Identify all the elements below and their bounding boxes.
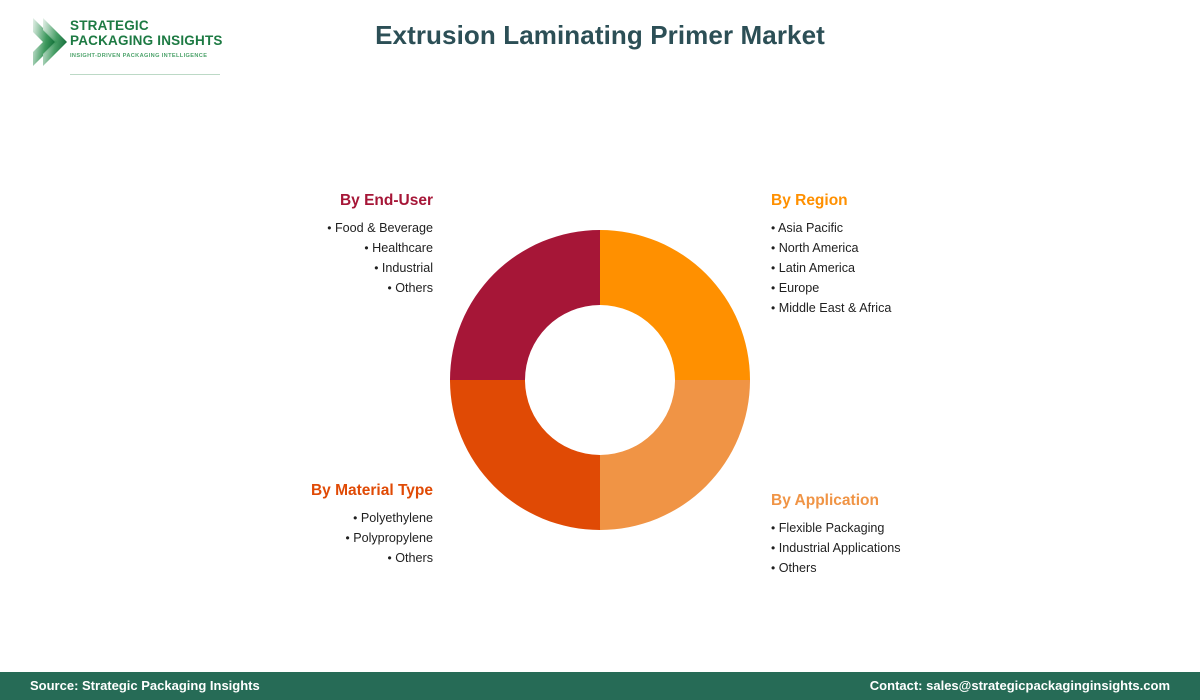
list-item-label: Others xyxy=(779,561,817,575)
list-item-label: Others xyxy=(395,281,433,295)
list-item: • Food & Beverage xyxy=(205,218,433,238)
bullet-icon: • xyxy=(771,221,775,235)
list-item: • Healthcare xyxy=(205,238,433,258)
segment-list-region: • Asia Pacific • North America • Latin A… xyxy=(771,218,1031,318)
list-item-label: Food & Beverage xyxy=(335,221,433,235)
donut-slice-by-region[interactable] xyxy=(600,230,750,380)
bullet-icon: • xyxy=(771,281,775,295)
list-item: • Industrial Applications xyxy=(771,538,1051,558)
list-item: • Middle East & Africa xyxy=(771,298,1031,318)
bullet-icon: • xyxy=(345,531,349,545)
list-item: • Asia Pacific xyxy=(771,218,1031,238)
footer-source-label: Source: Strategic Packaging Insights xyxy=(30,672,260,700)
bullet-icon: • xyxy=(771,561,775,575)
donut-slice-by-application[interactable] xyxy=(600,380,750,530)
bullet-icon: • xyxy=(771,541,775,555)
list-item: • Europe xyxy=(771,278,1031,298)
bullet-icon: • xyxy=(771,261,775,275)
list-item: • Others xyxy=(771,558,1051,578)
bullet-icon: • xyxy=(771,301,775,315)
list-item-label: North America xyxy=(779,241,859,255)
segment-by-region: By Region • Asia Pacific • North America… xyxy=(771,192,1031,318)
logo-tagline: INSIGHT-DRIVEN PACKAGING INTELLIGENCE xyxy=(70,53,230,59)
list-item-label: Latin America xyxy=(779,261,855,275)
footer-contact-label: Contact: sales@strategicpackaginginsight… xyxy=(870,672,1170,700)
list-item-label: Middle East & Africa xyxy=(779,301,892,315)
list-item-label: Industrial Applications xyxy=(779,541,901,555)
list-item-label: Polypropylene xyxy=(353,531,433,545)
page-title: Extrusion Laminating Primer Market xyxy=(0,20,1200,51)
list-item: • Others xyxy=(205,278,433,298)
bullet-icon: • xyxy=(364,241,368,255)
list-item-label: Flexible Packaging xyxy=(779,521,885,535)
segment-heading-material-type: By Material Type xyxy=(190,482,433,500)
list-item: • Industrial xyxy=(205,258,433,278)
list-item: • Polyethylene xyxy=(190,508,433,528)
bullet-icon: • xyxy=(771,521,775,535)
list-item-label: Europe xyxy=(779,281,820,295)
list-item-label: Healthcare xyxy=(372,241,433,255)
segment-heading-application: By Application xyxy=(771,492,1051,510)
bullet-icon: • xyxy=(388,551,392,565)
list-item: • North America xyxy=(771,238,1031,258)
list-item: • Flexible Packaging xyxy=(771,518,1051,538)
list-item-label: Industrial xyxy=(382,261,433,275)
list-item: • Polypropylene xyxy=(190,528,433,548)
list-item-label: Others xyxy=(395,551,433,565)
bullet-icon: • xyxy=(374,261,378,275)
logo-divider xyxy=(70,74,220,75)
donut-slice-by-material-type[interactable] xyxy=(450,380,600,530)
segment-by-material-type: By Material Type • Polyethylene • Polypr… xyxy=(190,482,433,568)
list-item: • Latin America xyxy=(771,258,1031,278)
segment-by-end-user: By End-User • Food & Beverage • Healthca… xyxy=(205,192,433,298)
bullet-icon: • xyxy=(388,281,392,295)
list-item-label: Asia Pacific xyxy=(778,221,843,235)
donut-slice-by-end-user[interactable] xyxy=(450,230,600,380)
bullet-icon: • xyxy=(327,221,331,235)
segment-heading-region: By Region xyxy=(771,192,1031,210)
donut-chart xyxy=(450,230,750,530)
bullet-icon: • xyxy=(353,511,357,525)
segment-by-application: By Application • Flexible Packaging • In… xyxy=(771,492,1051,578)
segment-heading-end-user: By End-User xyxy=(205,192,433,210)
footer-bar: Source: Strategic Packaging Insights Con… xyxy=(0,672,1200,700)
segment-list-end-user: • Food & Beverage • Healthcare • Industr… xyxy=(205,218,433,298)
list-item-label: Polyethylene xyxy=(361,511,433,525)
list-item: • Others xyxy=(190,548,433,568)
bullet-icon: • xyxy=(771,241,775,255)
segment-list-material-type: • Polyethylene • Polypropylene • Others xyxy=(190,508,433,568)
segment-list-application: • Flexible Packaging • Industrial Applic… xyxy=(771,518,1051,578)
